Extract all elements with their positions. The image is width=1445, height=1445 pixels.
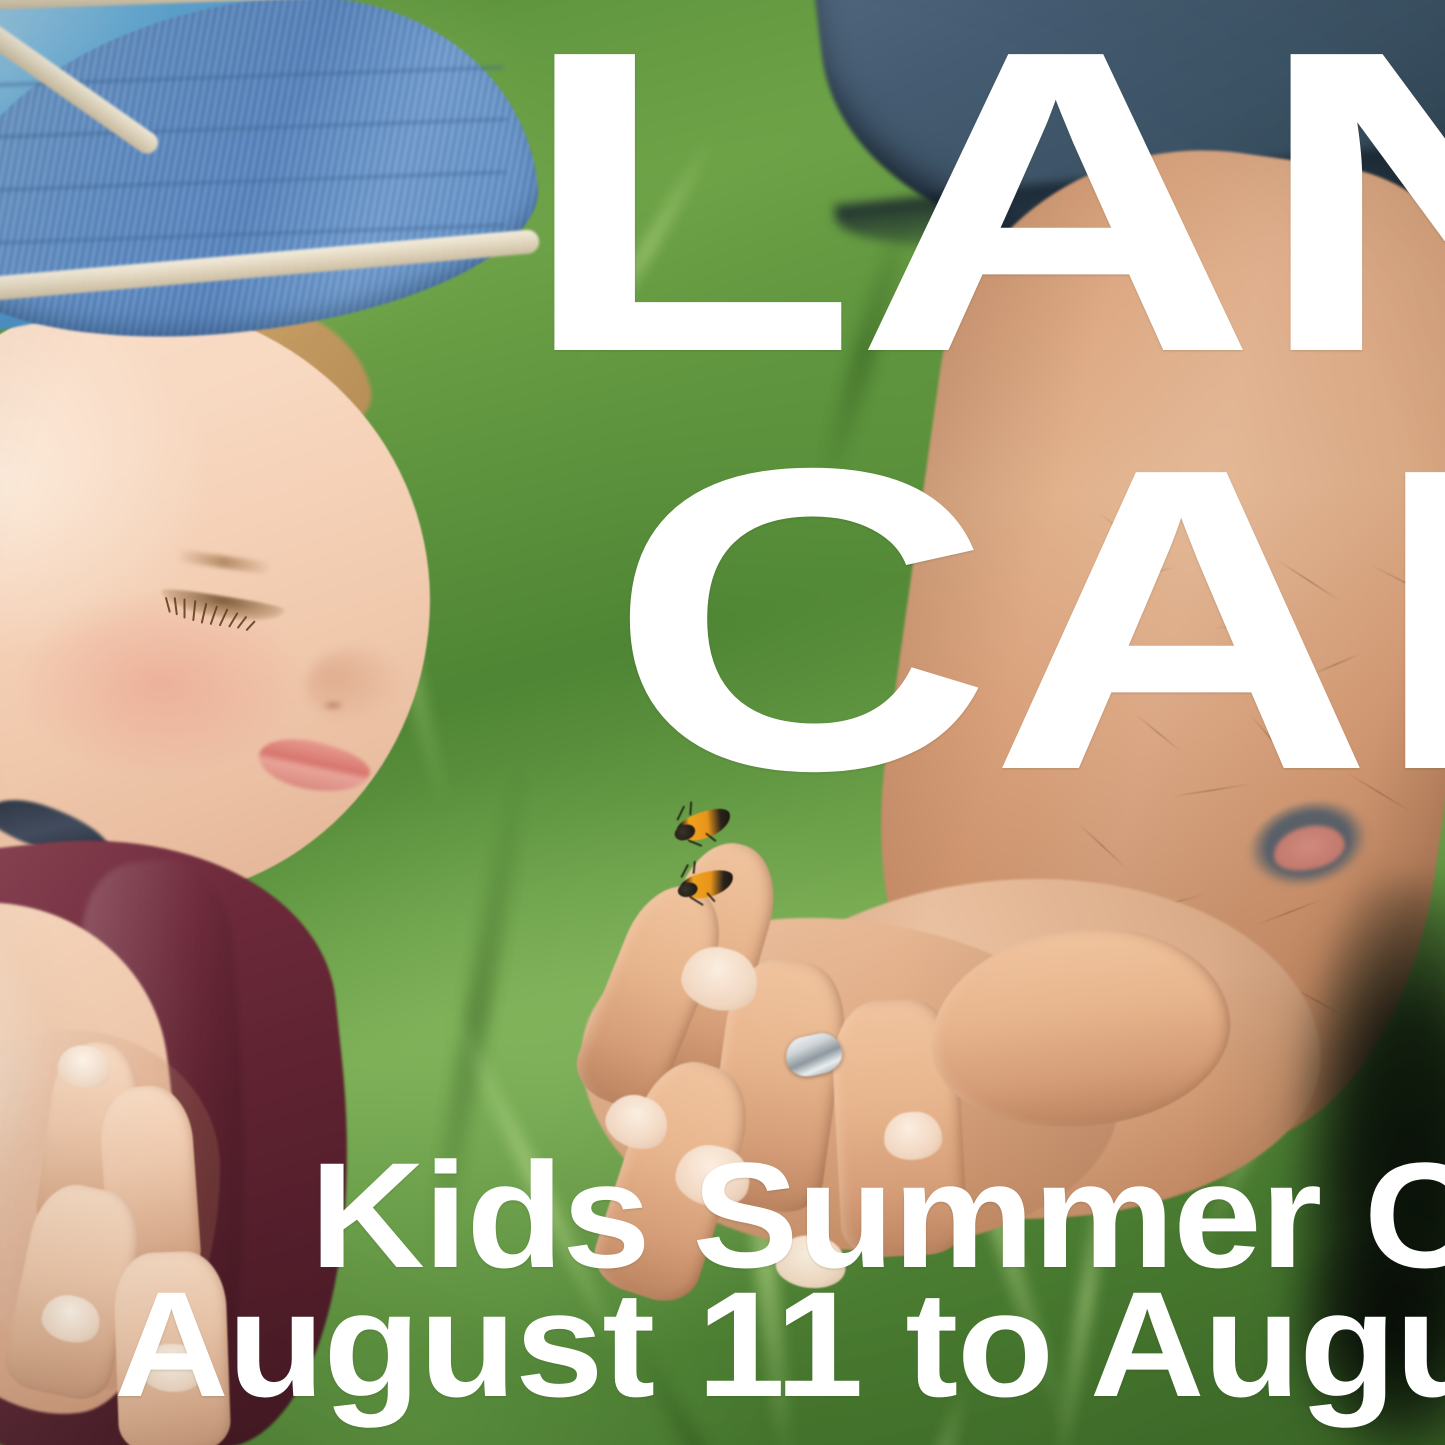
promo-poster: LAND CAMP Kids Summer Camp August 11 to …	[0, 0, 1445, 1445]
headline-line-camp: CAMP	[608, 440, 1445, 801]
subheadline-camp-dates: August 11 to August 15	[114, 1281, 1445, 1407]
text-overlay: LAND CAMP Kids Summer Camp August 11 to …	[0, 0, 1445, 1445]
headline-line-land: LAND	[517, 22, 1445, 383]
